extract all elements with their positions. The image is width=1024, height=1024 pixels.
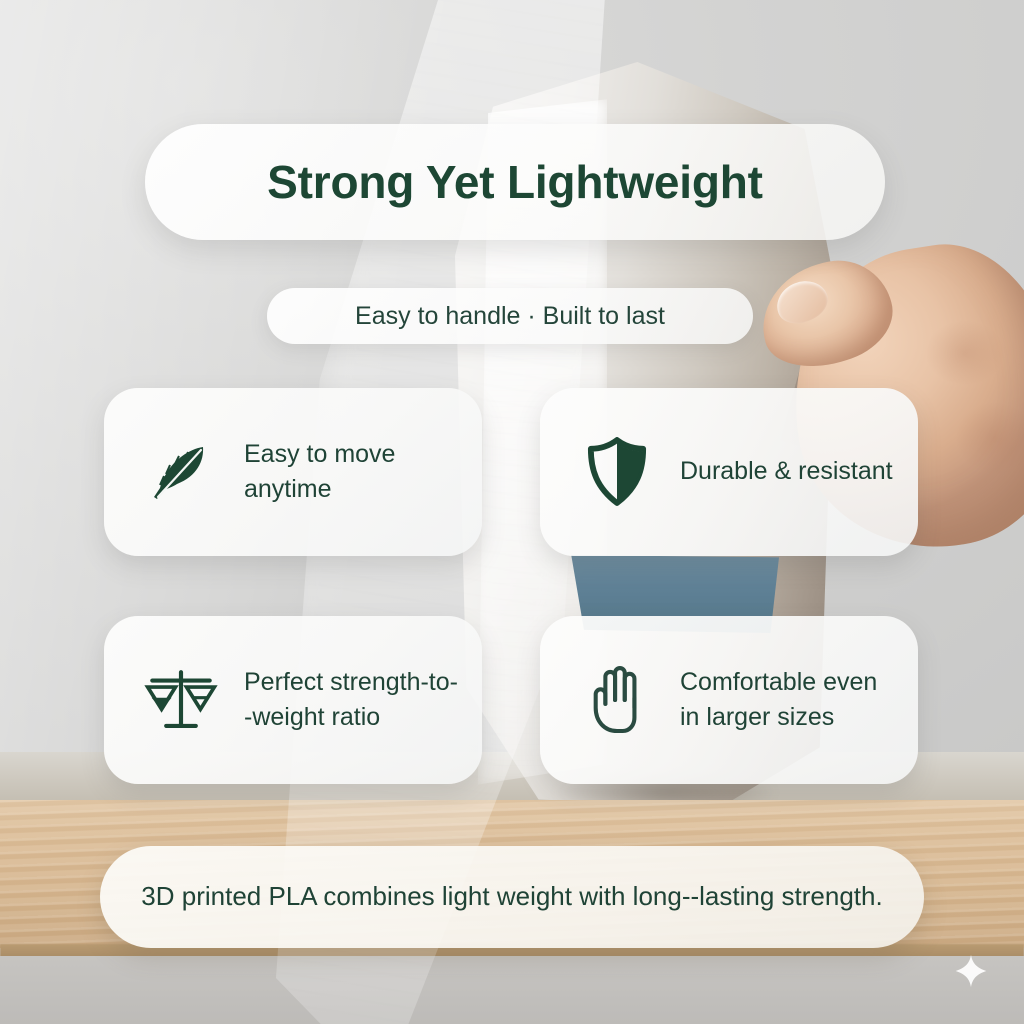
feather-icon: [144, 432, 218, 512]
feature-card[interactable]: Perfect strength-to--weight ratio: [104, 616, 482, 784]
overlay-ui: Strong Yet Lightweight Easy to handle · …: [0, 0, 1024, 1024]
sparkle-icon: [954, 954, 988, 988]
feature-label: Durable & resistant: [680, 454, 893, 490]
open-hand-icon: [580, 660, 654, 740]
feature-label: Comfortable even in larger sizes: [680, 665, 896, 736]
feature-card[interactable]: Easy to move anytime: [104, 388, 482, 556]
feature-label: Perfect strength-to--weight ratio: [244, 665, 460, 736]
shield-icon: [580, 432, 654, 512]
feature-card[interactable]: Durable & resistant: [540, 388, 918, 556]
feature-label: Easy to move anytime: [244, 437, 460, 508]
feature-card[interactable]: Comfortable even in larger sizes: [540, 616, 918, 784]
footer-text: 3D printed PLA combines light weight wit…: [101, 879, 922, 914]
footer-banner: 3D printed PLA combines light weight wit…: [100, 846, 924, 948]
balance-scale-icon: [144, 660, 218, 740]
